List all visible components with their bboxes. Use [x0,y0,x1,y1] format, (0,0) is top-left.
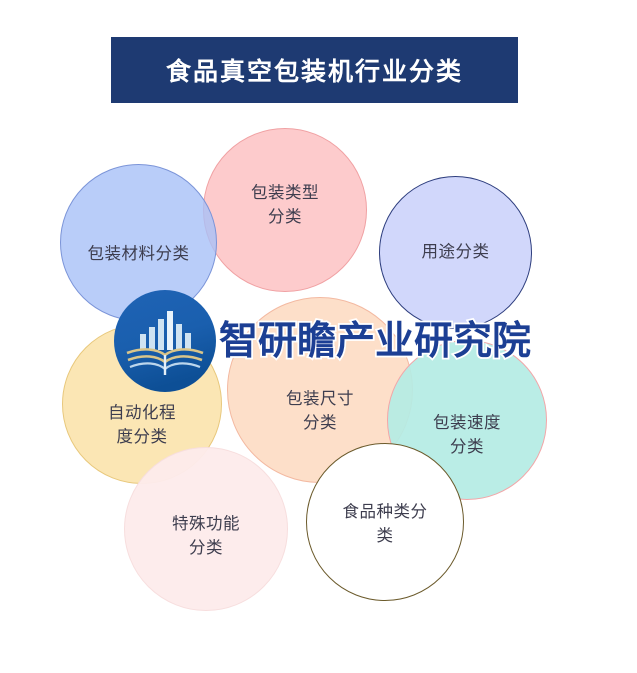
bubble-label-line: 用途分类 [422,243,490,261]
bubble-label-line: 类 [377,527,394,545]
bubble-food-category[interactable]: 食品种类分 类 [306,443,464,601]
bubble-usage[interactable]: 用途分类 [379,176,532,329]
bubble-label-line: 自动化程 [108,404,176,422]
bubble-label-food-category: 食品种类分 类 [329,501,442,549]
bubble-packaging-material[interactable]: 包装材料分类 [60,164,217,321]
bubble-label-line: 包装类型 [251,184,319,202]
page-title: 食品真空包装机行业分类 [166,52,463,88]
bubble-label-special-function: 特殊功能 分类 [158,513,254,561]
title-banner: 食品真空包装机行业分类 [111,37,518,103]
bubble-label-packaging-size: 包装尺寸 分类 [272,388,368,436]
bubble-label-automation-level: 自动化程 度分类 [94,402,190,450]
bubble-special-function[interactable]: 特殊功能 分类 [124,447,288,611]
bubble-label-line: 食品种类分 [343,503,428,521]
bubble-packaging-type[interactable]: 包装类型 分类 [203,128,367,292]
bubble-label-line: 特殊功能 [172,515,240,533]
bubble-label-line: 分类 [189,539,223,557]
bubble-label-line: 分类 [303,414,337,432]
bubble-label-line: 分类 [268,208,302,226]
bubble-label-line: 度分类 [117,428,168,446]
bubble-label-usage: 用途分类 [408,241,504,265]
bubble-label-packaging-material: 包装材料分类 [74,243,204,267]
bubble-label-line: 分类 [450,438,484,456]
bubble-label-line: 包装尺寸 [286,390,354,408]
bubble-label-packaging-type: 包装类型 分类 [237,182,333,230]
bubble-label-line: 包装速度 [433,414,501,432]
bubble-label-line: 包装材料分类 [88,245,190,263]
bubble-label-packaging-speed: 包装速度 分类 [419,412,515,460]
